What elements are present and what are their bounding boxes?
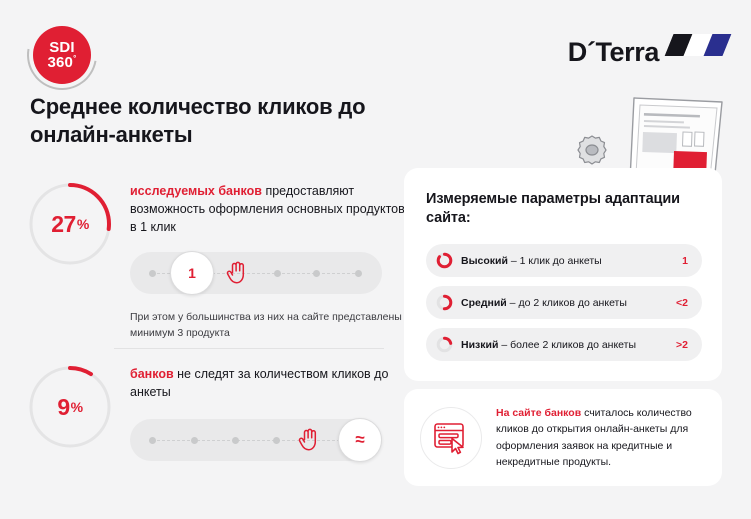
stat-note-27: При этом у большинства из них на сайте п… xyxy=(130,310,408,342)
hand-cursor-icon xyxy=(226,260,248,286)
note-highlight: На сайте банков xyxy=(496,407,581,419)
sdi-logo-disc: SDI 360° xyxy=(33,26,91,84)
stat-highlight-9: банков xyxy=(130,367,174,381)
track-dot xyxy=(313,270,320,277)
parameter-value-high: 1 xyxy=(682,255,688,267)
sdi-360-logo: SDI 360° xyxy=(27,20,97,90)
dterra-logo: D´Terra xyxy=(568,34,727,70)
parameter-row-high[interactable]: Высокий – 1 клик до анкеты 1 xyxy=(426,244,702,277)
click-step-label: ≈ xyxy=(355,430,364,450)
donut-chart-27: 27 % xyxy=(26,180,114,268)
track-dot xyxy=(149,437,156,444)
note-text: На сайте банков считалось количество кли… xyxy=(496,405,704,470)
measured-parameters-panel: Измеряемые параметры адаптации сайта: Вы… xyxy=(404,168,722,381)
donut-chart-9: 9 % xyxy=(26,363,114,451)
track-dot xyxy=(149,270,156,277)
section-divider xyxy=(114,348,384,349)
web-form-cursor-icon xyxy=(433,421,469,455)
sdi-logo-line2: 360° xyxy=(47,55,76,70)
track-dashed-line xyxy=(152,440,360,441)
donut-value-9: 9 % xyxy=(26,363,114,451)
methodology-note-card: На сайте банков считалось количество кли… xyxy=(404,389,722,486)
dterra-wordmark: D´Terra xyxy=(568,37,659,68)
stat-lead-27: исследуемых банков предоставляют возможн… xyxy=(130,182,408,236)
parameter-label-low: Низкий – более 2 кликов до анкеты xyxy=(461,339,668,351)
stat-block-27: 27 % исследуемых банков предоставляют во… xyxy=(26,180,114,268)
parameter-label-high: Высокий – 1 клик до анкеты xyxy=(461,255,674,267)
stat-lead-9: банков не следят за количеством кликов д… xyxy=(130,365,408,401)
click-progress-track-27[interactable]: 1 xyxy=(130,252,382,294)
parameter-value-medium: <2 xyxy=(676,297,688,309)
parameter-value-low: >2 xyxy=(676,339,688,351)
parameter-row-medium[interactable]: Средний – до 2 кликов до анкеты <2 xyxy=(426,286,702,319)
click-step-marker-approx[interactable]: ≈ xyxy=(338,418,382,462)
dterra-flag-icon xyxy=(665,34,732,56)
gear-icon xyxy=(578,136,606,164)
donut-value-27: 27 % xyxy=(26,180,114,268)
gauge-low-icon xyxy=(436,336,453,353)
parameter-row-low[interactable]: Низкий – более 2 кликов до анкеты >2 xyxy=(426,328,702,361)
donut-number-27: 27 xyxy=(51,211,76,238)
panel-title: Измеряемые параметры адаптации сайта: xyxy=(426,190,702,228)
infographic-page: SDI 360° D´Terra Среднее количество клик… xyxy=(0,0,751,519)
track-dot xyxy=(273,437,280,444)
stat-block-9: 9 % банков не следят за количеством клик… xyxy=(26,363,114,451)
track-dot xyxy=(274,270,281,277)
gauge-high-icon xyxy=(436,252,453,269)
donut-percent-sign-9: % xyxy=(71,399,83,415)
stat-body-27: исследуемых банков предоставляют возможн… xyxy=(130,180,408,342)
donut-number-9: 9 xyxy=(57,394,69,421)
donut-percent-sign-27: % xyxy=(77,216,89,232)
sdi-logo-line1: SDI xyxy=(49,40,75,55)
stat-body-9: банков не следят за количеством кликов д… xyxy=(130,363,408,461)
click-step-marker-1[interactable]: 1 xyxy=(170,251,214,295)
hand-cursor-icon xyxy=(298,427,320,453)
gauge-medium-icon xyxy=(436,294,453,311)
parameter-label-medium: Средний – до 2 кликов до анкеты xyxy=(461,297,668,309)
click-step-label: 1 xyxy=(188,265,196,281)
track-dot xyxy=(191,437,198,444)
track-dot xyxy=(232,437,239,444)
page-title: Среднее количество кликов до онлайн-анке… xyxy=(30,93,430,149)
stat-highlight-27: исследуемых банков xyxy=(130,184,262,198)
note-icon-circle xyxy=(420,407,482,469)
track-dot xyxy=(355,270,362,277)
click-progress-track-9[interactable]: ≈ xyxy=(130,419,382,461)
